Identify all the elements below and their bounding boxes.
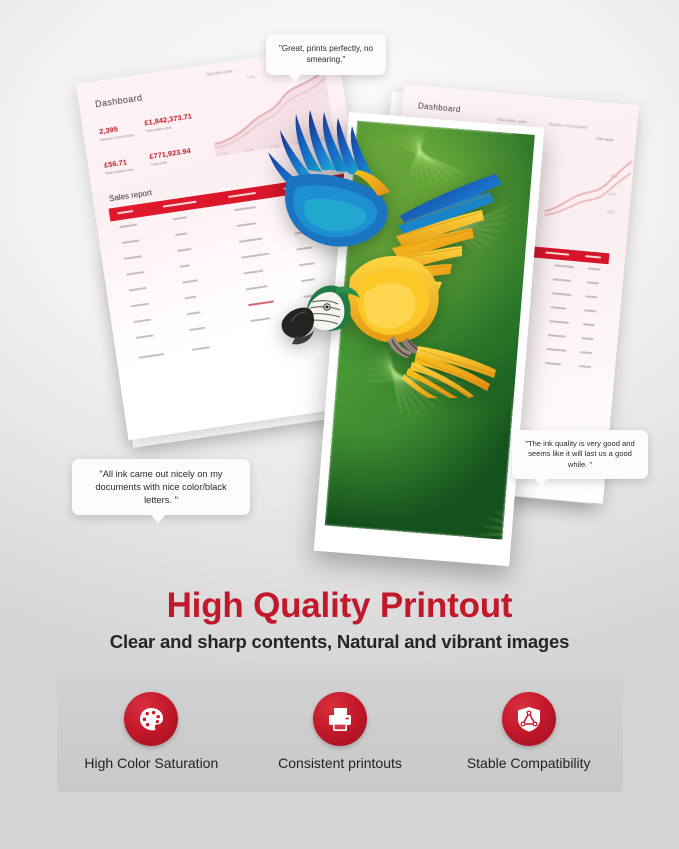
svg-text:£20k: £20k — [609, 192, 617, 197]
feature-label: Stable Compatibility — [467, 755, 591, 771]
testimonial-bubble-right: "The ink quality is very good and seems … — [512, 430, 648, 479]
kpi-value-purchases: 2,395 — [99, 124, 119, 136]
feature-consistent-printouts: Consistent printouts — [246, 692, 435, 771]
printer-icon — [313, 692, 367, 746]
testimonial-bubble-left: "All ink came out nicely on my documents… — [72, 459, 250, 515]
feature-label: High Color Saturation — [84, 755, 218, 771]
testimonial-text-top: "Great, prints perfectly, no smearing." — [279, 44, 373, 64]
bubble-tail-top — [288, 74, 302, 82]
page-subtitle: Clear and sharp contents, Natural and vi… — [0, 631, 679, 653]
feature-high-color-saturation: High Color Saturation — [57, 692, 246, 771]
page-title: High Quality Printout — [0, 586, 679, 626]
range-selector-right[interactable]: This week — [596, 136, 614, 143]
marketing-banner: Dashboard Total sales value Number of pu… — [0, 0, 679, 849]
metric-label-purchases: Number of purchases — [549, 121, 588, 129]
palette-icon — [124, 692, 178, 746]
kpi-label-profit: Total profit — [150, 161, 167, 167]
dashboard-title-left: Dashboard — [94, 93, 143, 110]
feature-stable-compatibility: Stable Compatibility — [434, 692, 623, 771]
macaw-illustration — [258, 108, 508, 398]
testimonial-text-right: "The ink quality is very good and seems … — [525, 439, 635, 469]
bubble-tail-right — [534, 478, 548, 486]
svg-text:Profit: Profit — [247, 75, 255, 80]
kpi-value-profit: £771,923.94 — [149, 146, 192, 161]
testimonial-text-left: "All ink came out nicely on my documents… — [95, 469, 226, 505]
svg-text:£30k: £30k — [610, 174, 618, 179]
feature-bar: High Color Saturation Consistent printou… — [57, 670, 623, 792]
bubble-tail-left — [150, 514, 166, 523]
macaw-body — [348, 256, 439, 343]
feature-label: Consistent printouts — [278, 755, 402, 771]
svg-text:£10k: £10k — [607, 210, 615, 215]
svg-text:08 Jan: 08 Jan — [243, 148, 254, 153]
macaw-left-wing — [268, 110, 390, 247]
macaw-head — [282, 286, 360, 345]
svg-text:01 Jan: 01 Jan — [218, 152, 229, 157]
sparkline-chart-right: £30k£20k£10k — [542, 141, 635, 226]
shield-icon — [502, 692, 556, 746]
testimonial-bubble-top: "Great, prints perfectly, no smearing." — [266, 34, 386, 75]
report-title-sales: Sales report — [108, 188, 152, 203]
